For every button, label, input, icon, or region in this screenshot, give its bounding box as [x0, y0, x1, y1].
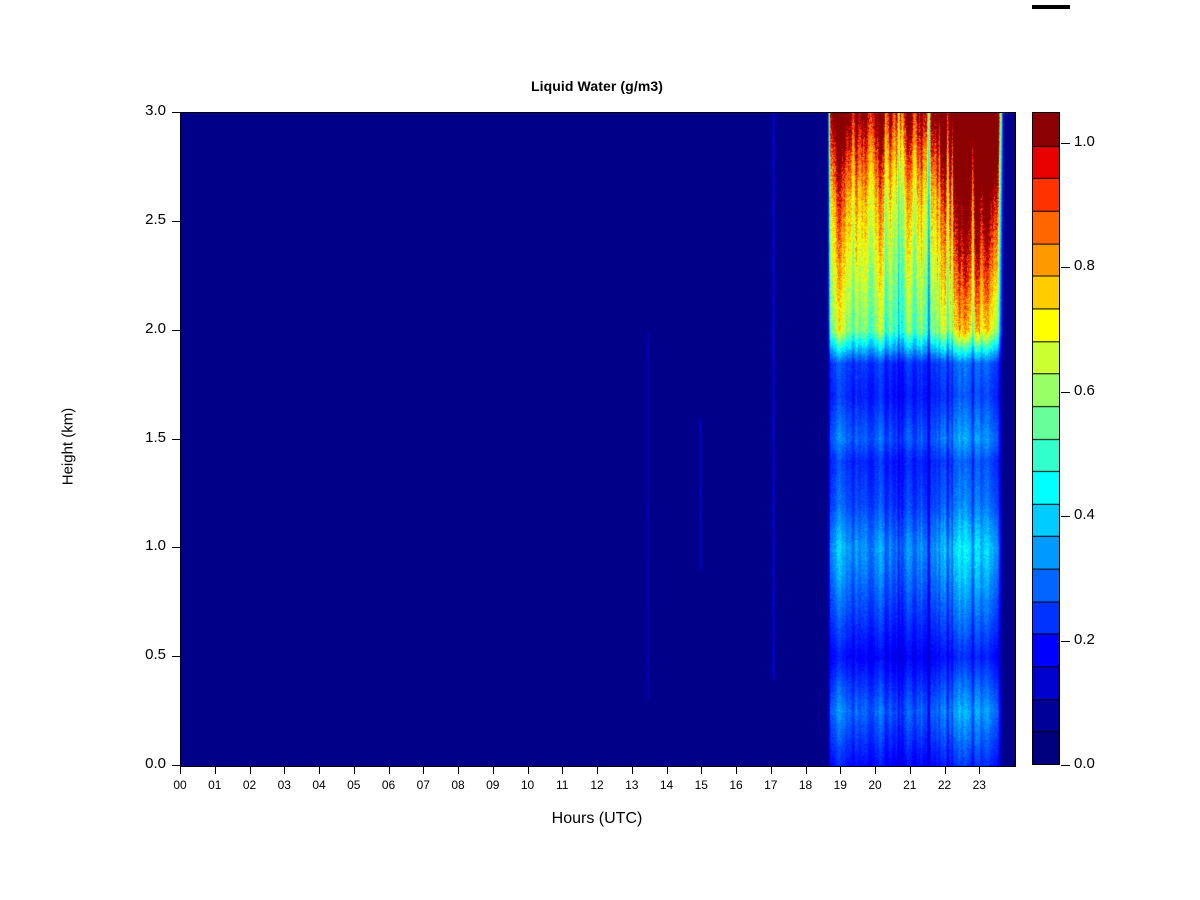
colorbar-tick-label: 0.0 [1074, 755, 1095, 772]
heatmap-plot-area [180, 112, 1016, 767]
x-tick-mark [701, 766, 702, 774]
x-tick-mark [875, 766, 876, 774]
x-tick-mark [806, 766, 807, 774]
y-tick-label: 2.0 [145, 320, 166, 337]
y-tick-mark [172, 656, 180, 657]
x-tick-mark [423, 766, 424, 774]
y-tick-mark [172, 221, 180, 222]
colorbar-tick-mark [1061, 765, 1070, 766]
y-tick-mark [172, 765, 180, 766]
x-tick-mark [597, 766, 598, 774]
x-tick-mark [979, 766, 980, 774]
colorbar-tick-label: 0.8 [1074, 257, 1095, 274]
colorbar [1032, 112, 1060, 765]
x-tick-mark [180, 766, 181, 774]
x-tick-mark [736, 766, 737, 774]
colorbar-tick-mark [1061, 267, 1070, 268]
colorbar-tick-mark [1061, 143, 1070, 144]
y-tick-label: 3.0 [145, 102, 166, 119]
colorbar-tick-mark [1061, 516, 1070, 517]
x-tick-mark [319, 766, 320, 774]
colorbar-gradient [1032, 112, 1060, 765]
x-tick-label: 23 [959, 778, 999, 792]
colorbar-tick-label: 0.2 [1074, 631, 1095, 648]
colorbar-tick-label: 0.6 [1074, 382, 1095, 399]
colorbar-tick-mark [1061, 641, 1070, 642]
x-tick-mark [945, 766, 946, 774]
colorbar-tick-label: 0.4 [1074, 506, 1095, 523]
y-tick-mark [172, 439, 180, 440]
x-tick-mark [771, 766, 772, 774]
y-tick-label: 2.5 [145, 211, 166, 228]
colorbar-tick-label: 1.0 [1074, 133, 1095, 150]
x-tick-mark [910, 766, 911, 774]
x-tick-mark [632, 766, 633, 774]
x-axis-title: Hours (UTC) [180, 810, 1014, 828]
x-tick-mark [667, 766, 668, 774]
y-tick-mark [172, 330, 180, 331]
x-tick-mark [389, 766, 390, 774]
y-axis-title: Height (km) [60, 367, 77, 527]
figure-canvas: Liquid Water (g/m3) Height (km) Hours (U… [0, 0, 1200, 900]
y-tick-label: 1.0 [145, 537, 166, 554]
y-tick-mark [172, 547, 180, 548]
heatmap-image [181, 113, 1015, 766]
colorbar-tick-mark [1061, 392, 1070, 393]
y-tick-label: 0.0 [145, 755, 166, 772]
x-tick-mark [215, 766, 216, 774]
x-tick-mark [250, 766, 251, 774]
y-tick-mark [172, 112, 180, 113]
y-tick-label: 0.5 [145, 646, 166, 663]
x-tick-mark [528, 766, 529, 774]
page-title: Liquid Water (g/m3) [180, 78, 1014, 94]
x-tick-mark [493, 766, 494, 774]
x-tick-mark [562, 766, 563, 774]
x-tick-mark [284, 766, 285, 774]
x-tick-mark [458, 766, 459, 774]
x-tick-mark [840, 766, 841, 774]
y-tick-label: 1.5 [145, 429, 166, 446]
x-tick-mark [354, 766, 355, 774]
top-edge-artifact [1032, 5, 1070, 9]
